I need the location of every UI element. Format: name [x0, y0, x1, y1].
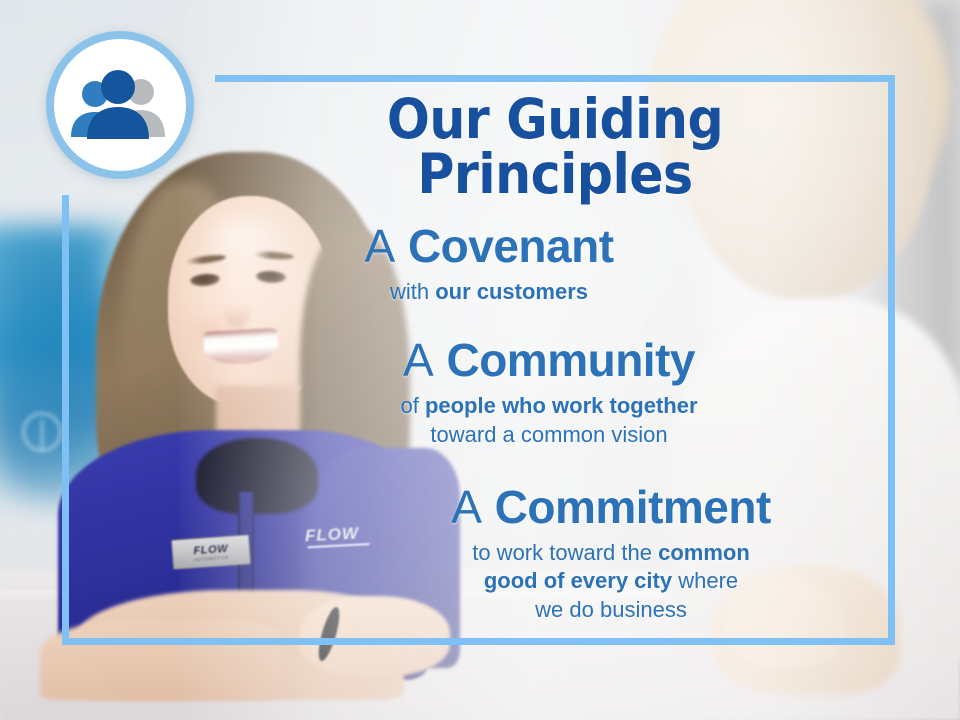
principle-1-sub-bold: our customers: [435, 279, 588, 304]
background-vw-logo-icon: [22, 412, 62, 452]
principle-2-sub-plain: of: [400, 393, 424, 418]
principle-3-sub-plain-1: to work toward the: [472, 540, 658, 565]
principle-commitment-subtext: to work toward the common good of every …: [271, 539, 951, 625]
principle-1-word: Covenant: [408, 220, 614, 272]
principle-covenant-headline: A Covenant: [149, 222, 829, 272]
employee-forearm: [40, 620, 280, 700]
content-block: Our Guiding Principles A Covenant with o…: [215, 92, 895, 625]
principle-3-article: A: [451, 481, 482, 533]
principle-1-sub-plain: with: [390, 279, 435, 304]
principle-3-sub-plain-2: where: [672, 568, 738, 593]
people-group-badge: [46, 31, 194, 179]
principle-3-sub-bold-1: common: [658, 540, 750, 565]
principle-3-sub-bold-2: good of every city: [484, 568, 672, 593]
principle-2-article: A: [403, 334, 434, 386]
principle-1-article: A: [364, 220, 395, 272]
page-title: Our Guiding Principles: [242, 92, 868, 202]
principle-community: A Community of people who work together …: [215, 336, 895, 449]
poster-canvas: FLOW AUTOMOTIVE FLOW Our: [0, 0, 960, 720]
principle-covenant: A Covenant with our customers: [215, 222, 895, 306]
principle-covenant-subtext: with our customers: [149, 278, 829, 307]
principle-commitment: A Commitment to work toward the common g…: [215, 483, 895, 624]
principle-3-word: Commitment: [495, 481, 771, 533]
people-group-icon: [68, 69, 172, 141]
principle-2-word: Community: [446, 334, 695, 386]
principle-community-subtext: of people who work together toward a com…: [209, 392, 889, 449]
principle-2-sub-line2: toward a common vision: [430, 422, 667, 447]
principle-commitment-headline: A Commitment: [271, 483, 951, 533]
principle-3-sub-line2: we do business: [535, 597, 687, 622]
principle-2-sub-bold: people who work together: [425, 393, 698, 418]
principle-community-headline: A Community: [209, 336, 889, 386]
